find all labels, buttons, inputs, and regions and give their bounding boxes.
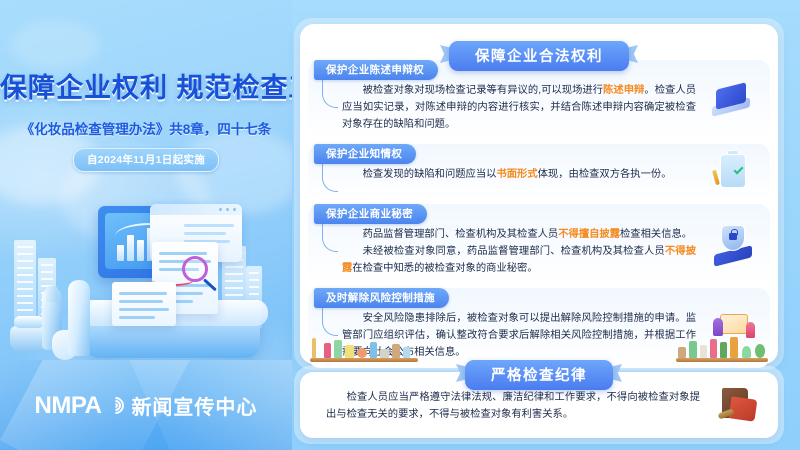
cloud-decor: [10, 20, 100, 70]
section-hook-decor: [322, 162, 338, 192]
section-right-to-know: 保护企业知情权 检查发现的缺陷和问题应当以书面形式体现，由检查双方各执一份。: [308, 144, 770, 200]
signal-arc-icon: [105, 395, 126, 416]
shelf-item: [370, 342, 377, 358]
shelf-plank-decor: [310, 358, 418, 362]
section-hook-decor: [322, 222, 338, 252]
text-line-decor: [159, 252, 207, 255]
shelf-item: [730, 337, 738, 358]
shelf-item: [345, 345, 354, 358]
left-title-block: 保障企业权利 规范检查工作 《化妆品检查管理办法》共8章，四十七条 自2024年…: [0, 66, 292, 172]
shelf-item: [312, 338, 316, 358]
person-figure-icon: [713, 318, 723, 336]
window-titlebar-decor: [150, 204, 242, 215]
cosmetic-tube-icon: [68, 280, 90, 356]
shelf-item: [689, 341, 697, 358]
section-body: 被检查对象对现场检查记录等有异议的,可以现场进行陈述申辩。检查人员应当如实记录，…: [342, 83, 696, 134]
nmpa-wordmark: NMPA: [35, 392, 102, 420]
line1-suffix: 检查相关信息。: [620, 229, 692, 240]
shelf-plant-decor: [755, 344, 765, 358]
section-body-line-1: 药品监督管理部门、检查机构及其检查人员不得擅自披露检查相关信息。: [342, 227, 696, 244]
nmpa-logo: NMPA 新闻宣传中心: [0, 391, 292, 420]
effective-date-badge: 自2024年11月1日起实施: [73, 148, 219, 172]
clipboard-checklist-icon: [710, 150, 756, 194]
text-line-decor: [119, 308, 169, 311]
left-panel: 保障企业权利 规范检查工作 《化妆品检查管理办法》共8章，四十七条 自2024年…: [0, 0, 292, 450]
shelf-item: [334, 340, 342, 358]
poster-root: 保障企业权利 规范检查工作 《化妆品检查管理办法》共8章，四十七条 自2024年…: [0, 0, 800, 450]
shelf-item: [324, 343, 331, 358]
sections-list: 保护企业陈述申辩权 被检查对象对现场检查记录等有异议的,可以现场进行陈述申辩。检…: [300, 60, 778, 372]
chart-bar: [117, 245, 124, 261]
discipline-card-body: 检查人员应当严格遵守法律法规、廉洁纪律和工作要求，不得向被检查对象提出与检查无关…: [326, 390, 700, 424]
window-dot-icon: [219, 208, 222, 211]
chart-bar: [127, 235, 134, 261]
shelf-item: [357, 348, 367, 358]
product-shelf-left-decor: [310, 336, 418, 362]
document-sheet-icon: [112, 282, 176, 326]
building-decor: [14, 240, 36, 328]
text-line-decor: [184, 232, 226, 235]
book-shape: [729, 396, 758, 421]
laptop-document-icon: [710, 78, 756, 122]
section-badge: 及时解除风险控制措施: [314, 288, 449, 308]
shelf-item: [710, 339, 717, 358]
text-line-decor: [119, 292, 167, 295]
section-hook-decor: [322, 78, 338, 108]
rights-card-title: 保障企业合法权利: [449, 41, 629, 71]
shelf-item: [700, 345, 707, 358]
text-line-decor: [184, 224, 234, 227]
section-trade-secret: 保护企业商业秘密 药品监督管理部门、检查机构及其检查人员不得擅自披露检查相关信息…: [308, 204, 770, 284]
section-body-line-2: 未经被检查对象同意，药品监督管理部门、检查机构及其检查人员不得披露在检查中知悉的…: [342, 244, 696, 278]
text-line-decor: [119, 300, 163, 303]
line2-prefix: 未经被检查对象同意，药品监督管理部门、检查机构及其检查人员: [363, 246, 665, 257]
cosmetic-bottle-cap-icon: [46, 286, 58, 302]
section-badge: 保护企业商业秘密: [314, 204, 427, 224]
discipline-card-title: 严格检查纪律: [465, 360, 613, 390]
lock-icon: [729, 233, 737, 240]
shield-lock-icon: [710, 222, 756, 266]
discipline-card-header: 严格检查纪律: [465, 360, 613, 390]
discipline-card: 严格检查纪律 检查人员应当严格遵守法律法规、廉洁纪律和工作要求，不得向被检查对象…: [300, 372, 778, 438]
shelf-plank-decor: [676, 358, 768, 362]
shelf-item: [380, 349, 389, 358]
pen-icon: [712, 170, 720, 186]
chart-bar: [137, 240, 144, 261]
shelf-item: [742, 346, 751, 358]
hero-illustration: [0, 178, 292, 368]
right-panel: 保障企业合法权利 保护企业陈述申辩权 被检查对象对现场检查记录等有异议的,可以现…: [292, 0, 800, 450]
section-body-prefix: 被检查对象对现场检查记录等有异议的,可以现场进行: [363, 85, 603, 96]
shelf-item: [392, 344, 400, 358]
cosmetic-jar-lid-icon: [14, 316, 44, 328]
sparkle-decor: [552, 32, 555, 35]
section-body-prefix: 检查发现的缺陷和问题应当以: [363, 169, 497, 180]
law-book-gavel-icon: [716, 384, 762, 426]
rights-card: 保障企业合法权利 保护企业陈述申辩权 被检查对象对现场检查记录等有异议的,可以现…: [300, 24, 778, 364]
window-dot-icon: [233, 208, 236, 211]
section-body-suffix: 体现，由检查双方各执一份。: [538, 169, 672, 180]
section-badge: 保护企业陈述申辩权: [314, 60, 438, 80]
shelf-item: [678, 347, 686, 358]
section-statement-defense: 保护企业陈述申辩权 被检查对象对现场检查记录等有异议的,可以现场进行陈述申辩。检…: [308, 60, 770, 140]
page-subtitle: 《化妆品检查管理办法》共8章，四十七条: [0, 118, 292, 138]
section-body: 药品监督管理部门、检查机构及其检查人员不得擅自披露检查相关信息。 未经被检查对象…: [342, 227, 696, 278]
product-shelf-right-decor: [676, 336, 768, 362]
nmpa-logo-cn-label: 新闻宣传中心: [131, 391, 257, 420]
section-hook-decor: [322, 306, 338, 336]
text-line-decor: [119, 316, 155, 319]
page-title: 保障企业权利 规范检查工作: [0, 66, 292, 105]
shelf-item: [720, 342, 727, 358]
section-body-highlight: 书面形式: [496, 169, 537, 180]
section-badge: 保护企业知情权: [314, 144, 416, 164]
shelf-item: [403, 347, 410, 358]
section-body: 检查发现的缺陷和问题应当以书面形式体现，由检查双方各执一份。: [342, 167, 696, 184]
line2-suffix: 在检查中知悉的被检查对象的商业秘密。: [352, 263, 537, 274]
section-body-highlight: 陈述申辩: [603, 85, 644, 96]
line1-prefix: 药品监督管理部门、检查机构及其检查人员: [363, 229, 559, 240]
rights-card-header: 保障企业合法权利: [449, 41, 629, 71]
window-dot-icon: [226, 208, 229, 211]
line1-highlight: 不得擅自披露: [558, 229, 620, 240]
presentation-board-shape: [720, 314, 748, 334]
